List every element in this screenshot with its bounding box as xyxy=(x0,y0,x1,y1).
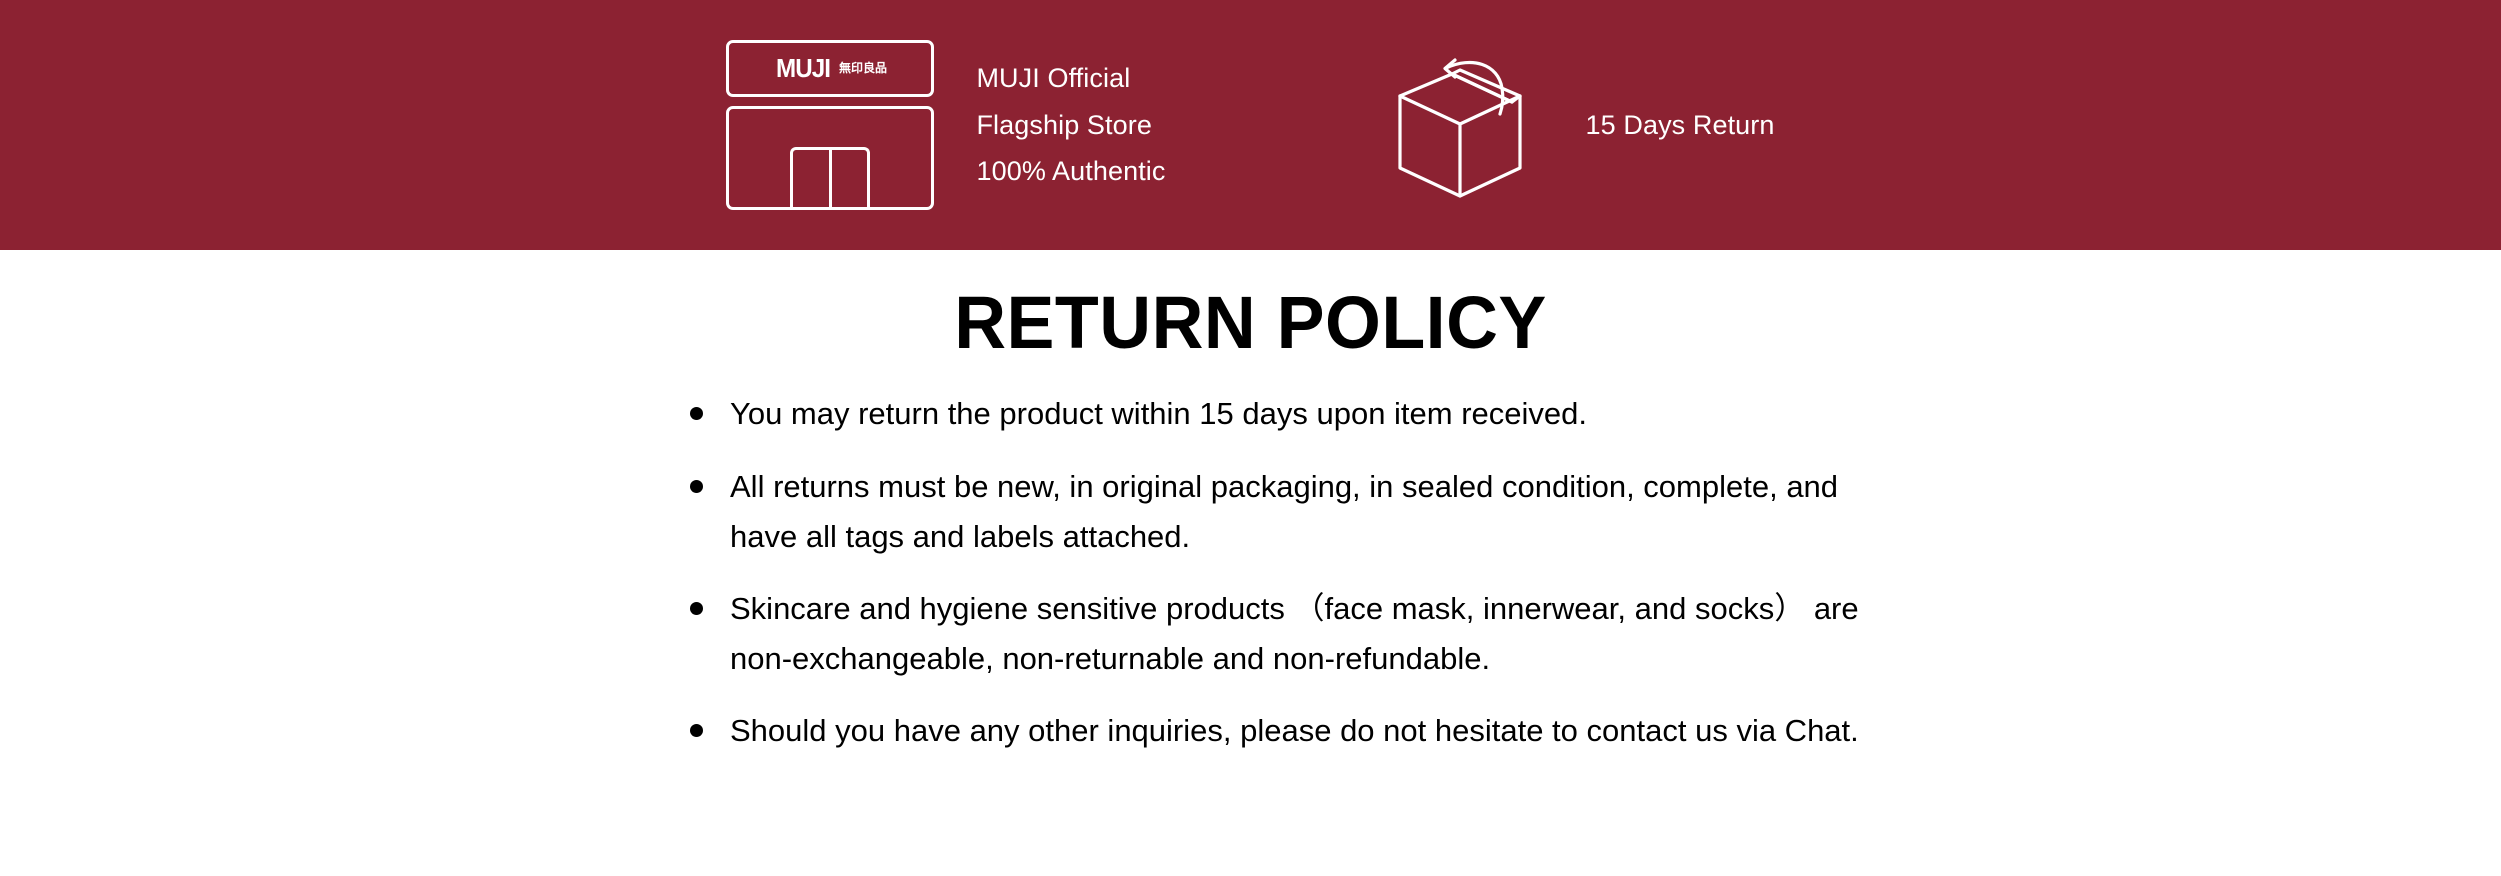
store-badge-line-2: Flagship Store xyxy=(976,102,1165,148)
policy-item-text: All returns must be new, in original pac… xyxy=(730,462,1890,562)
policy-item-text: Should you have any other inquiries, ple… xyxy=(730,706,1890,756)
list-item: All returns must be new, in original pac… xyxy=(690,462,1890,562)
store-authenticity-badge: MUJI 無印良品 MUJI Official Flagship Store 1… xyxy=(726,40,1165,210)
policy-list: You may return the product within 15 day… xyxy=(690,389,1890,756)
return-badge-label: 15 Days Return xyxy=(1586,110,1775,141)
store-badge-line-3: 100% Authentic xyxy=(976,148,1165,194)
muji-wordmark: MUJI xyxy=(776,55,830,81)
store-doors xyxy=(790,147,870,210)
list-item: Should you have any other inquiries, ple… xyxy=(690,706,1890,756)
return-box-icon xyxy=(1390,50,1530,200)
muji-japanese-wordmark: 無印良品 xyxy=(839,62,887,74)
page-title: RETURN POLICY xyxy=(38,282,2464,363)
policy-item-text: Skincare and hygiene sensitive products … xyxy=(730,584,1890,684)
bullet-icon xyxy=(690,480,703,493)
muji-logo: MUJI 無印良品 xyxy=(774,55,887,81)
store-sign: MUJI 無印良品 xyxy=(726,40,934,97)
store-door-divider xyxy=(829,150,832,210)
store-badge-text: MUJI Official Flagship Store 100% Authen… xyxy=(976,55,1165,194)
list-item: You may return the product within 15 day… xyxy=(690,389,1890,439)
bullet-icon xyxy=(690,602,703,615)
bullet-icon xyxy=(690,724,703,737)
store-badge-line-1: MUJI Official xyxy=(976,55,1165,101)
banner-content: MUJI 無印良品 MUJI Official Flagship Store 1… xyxy=(0,0,2501,250)
promo-banner: MUJI 無印良品 MUJI Official Flagship Store 1… xyxy=(0,0,2501,250)
return-policy-badge: 15 Days Return xyxy=(1390,50,1775,200)
list-item: Skincare and hygiene sensitive products … xyxy=(690,584,1890,684)
policy-item-text: You may return the product within 15 day… xyxy=(730,389,1890,439)
policy-content: RETURN POLICY You may return the product… xyxy=(0,250,2501,757)
storefront-icon: MUJI 無印良品 xyxy=(726,40,934,210)
store-facade xyxy=(726,106,934,210)
bullet-icon xyxy=(690,407,703,420)
